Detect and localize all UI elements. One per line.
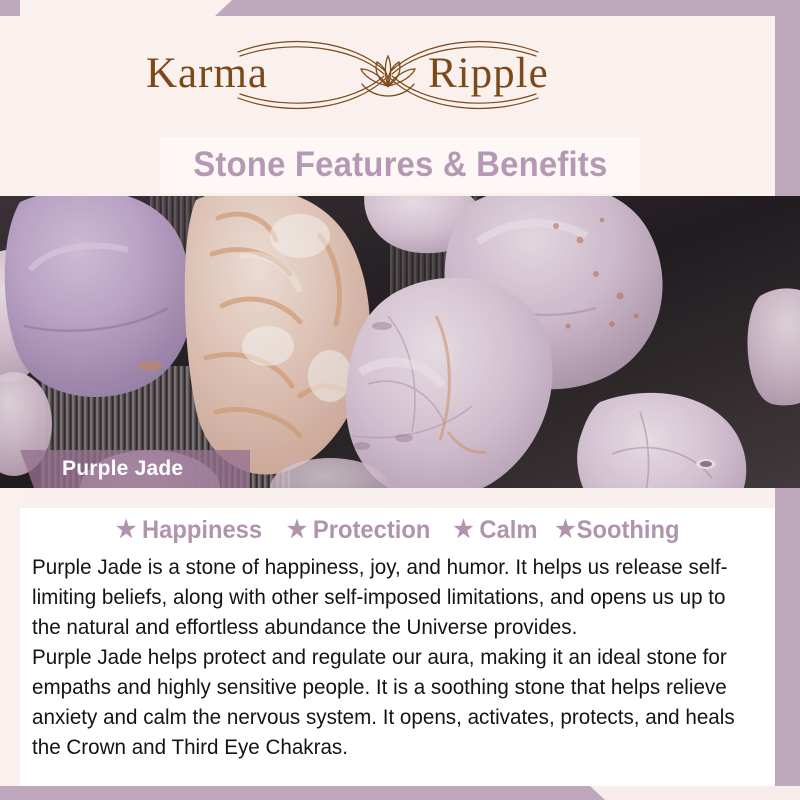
photo-panel-gap (20, 488, 775, 508)
keyword-label: Happiness (142, 516, 262, 545)
star-icon: ★ (555, 518, 575, 542)
star-icon: ★ (116, 518, 136, 542)
section-title-band: Stone Features & Benefits (160, 137, 640, 193)
description-text: Purple Jade is a stone of happiness, joy… (32, 552, 737, 762)
brand-logo-artwork: Karma Ripple (128, 30, 648, 120)
keyword-label: Calm (480, 516, 538, 545)
description-paragraph-1: Purple Jade is a stone of happiness, joy… (32, 552, 737, 642)
star-icon: ★ (454, 518, 474, 542)
keyword-label: Protection (313, 516, 430, 545)
stone-info-poster: Karma Ripple Stone Features & Benefits (0, 0, 800, 800)
keyword-happiness: ★ Happiness (116, 516, 262, 545)
brand-name-left: Karma (146, 50, 268, 97)
brand-logo: Karma Ripple (0, 30, 775, 120)
brand-name-right: Ripple (428, 50, 549, 97)
benefit-keywords-row: ★ Happiness ★ Protection ★ Calm ★ Soothi… (20, 511, 775, 549)
stone-photo-artwork (0, 196, 800, 488)
description-paragraph-2: Purple Jade helps protect and regulate o… (32, 642, 737, 762)
stone-name-ribbon: Purple Jade (20, 450, 250, 488)
stone-name-label: Purple Jade (62, 457, 183, 481)
star-icon: ★ (287, 518, 307, 542)
page-title: Stone Features & Benefits (193, 145, 607, 185)
keyword-soothing: ★ Soothing (555, 516, 679, 545)
keyword-label: Soothing (577, 516, 680, 545)
lotus-flower-icon (361, 56, 415, 96)
keyword-protection: ★ Protection (287, 516, 431, 545)
stone-photo (0, 196, 800, 488)
keyword-calm: ★ Calm (454, 516, 538, 545)
top-accent-band (215, 0, 800, 16)
